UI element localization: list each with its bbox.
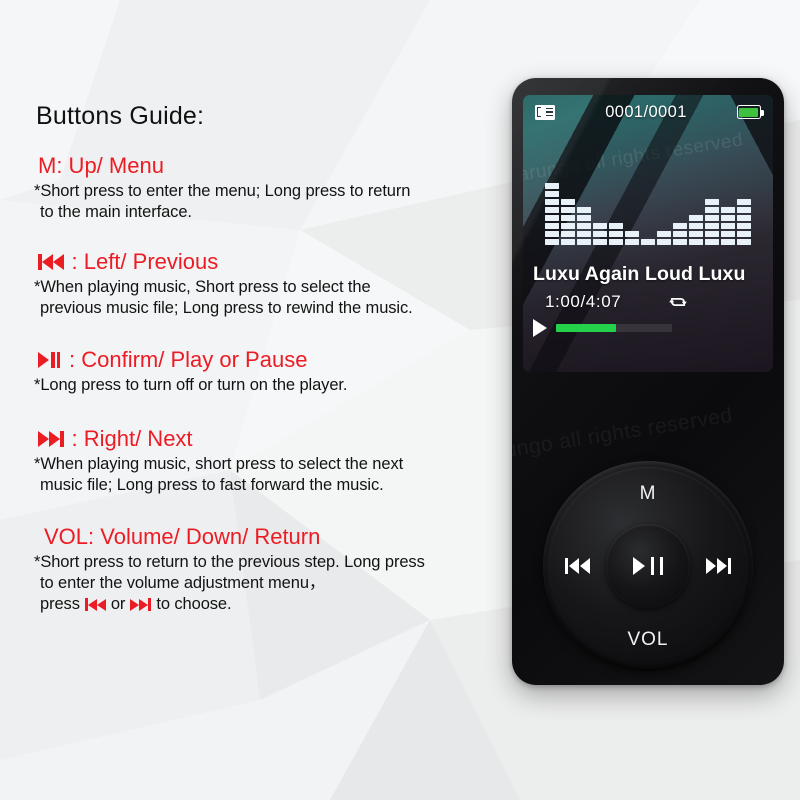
spectrum-cell <box>593 239 607 245</box>
spectrum-bar <box>545 183 559 245</box>
mp3-player-device: arungo all rights reserved arungo all ri… <box>512 78 784 685</box>
spectrum-cell <box>737 231 751 237</box>
spectrum-bar <box>609 223 623 245</box>
spectrum-bar <box>577 207 591 245</box>
spectrum-bar <box>561 199 575 245</box>
spectrum-cell <box>577 215 591 221</box>
previous-track-icon[interactable] <box>565 558 590 574</box>
spectrum-cell <box>545 199 559 205</box>
guide-body-line: *Long press to turn off or turn on the p… <box>34 375 494 396</box>
spectrum-cell <box>721 231 735 237</box>
guide-section-previous: : Left/ Previous *When playing music, Sh… <box>34 249 494 319</box>
guide-section-next: : Right/ Next *When playing music, short… <box>34 426 494 496</box>
guide-body-line: music file; Long press to fast forward t… <box>34 475 494 496</box>
time-row: 1:00/4:07 <box>533 292 763 312</box>
spectrum-cell <box>689 223 703 229</box>
spectrum-cell <box>625 239 639 245</box>
progress-bar <box>556 324 672 332</box>
spectrum-cell <box>561 223 575 229</box>
spectrum-cell <box>737 215 751 221</box>
guide-body-line: *When playing music, short press to sele… <box>34 454 494 475</box>
spectrum-cell <box>721 207 735 213</box>
page-title: Buttons Guide: <box>36 102 494 131</box>
spectrum-cell <box>705 215 719 221</box>
spectrum-bar <box>737 199 751 245</box>
spectrum-cell <box>561 239 575 245</box>
guide-heading-previous: : Left/ Previous <box>38 249 494 275</box>
guide-section-menu: M: Up/ Menu *Short press to enter the me… <box>34 153 494 223</box>
play-pause-icon <box>633 557 663 575</box>
guide-body-next: *When playing music, short press to sele… <box>34 454 494 496</box>
spectrum-cell <box>609 223 623 229</box>
spectrum-cell <box>721 239 735 245</box>
guide-section-volume: VOL: Volume/ Down/ Return *Short press t… <box>34 524 494 615</box>
spectrum-cell <box>545 223 559 229</box>
spectrum-cell <box>577 239 591 245</box>
watermark-body: arungo all rights reserved <box>512 404 734 467</box>
guide-body-line: previous music file; Long press to rewin… <box>34 298 494 319</box>
guide-heading-volume-text: VOL: Volume/ Down/ Return <box>44 524 320 550</box>
spectrum-cell <box>545 215 559 221</box>
guide-body-line-with-icons: press or to choose. <box>34 594 494 615</box>
spectrum-cell <box>705 207 719 213</box>
spectrum-bar <box>657 231 671 245</box>
spectrum-cell <box>577 207 591 213</box>
guide-body-line: *When playing music, Short press to sele… <box>34 277 494 298</box>
guide-heading-volume: VOL: Volume/ Down/ Return <box>44 524 494 550</box>
playback-row <box>533 319 763 337</box>
spectrum-cell <box>657 239 671 245</box>
spectrum-cell <box>705 199 719 205</box>
play-icon <box>533 319 547 337</box>
spectrum-cell <box>625 231 639 237</box>
spectrum-cell <box>657 231 671 237</box>
guide-heading-previous-text: : Left/ Previous <box>72 249 219 275</box>
spectrum-cell <box>545 183 559 189</box>
prev-icon <box>85 596 106 613</box>
spectrum-bar <box>721 207 735 245</box>
volume-button[interactable]: VOL <box>543 629 753 651</box>
progress-bar-fill <box>556 324 616 332</box>
spectrum-cell <box>689 239 703 245</box>
screen-status-bar: 0001/0001 <box>523 101 773 123</box>
play-pause-icon <box>38 349 60 371</box>
guide-body-volume: *Short press to return to the previous s… <box>34 552 494 615</box>
player-screen: arungo all rights reserved 0001/0001 Lux… <box>523 95 773 372</box>
spectrum-analyzer <box>545 163 751 245</box>
spectrum-cell <box>689 231 703 237</box>
buttons-guide-panel: Buttons Guide: M: Up/ Menu *Short press … <box>34 102 494 621</box>
spectrum-cell <box>545 191 559 197</box>
spectrum-bar <box>689 215 703 245</box>
spectrum-cell <box>737 223 751 229</box>
spectrum-cell <box>705 223 719 229</box>
guide-or-label: or <box>111 594 125 615</box>
spectrum-cell <box>705 231 719 237</box>
spectrum-cell <box>641 239 655 245</box>
spectrum-cell <box>737 207 751 213</box>
guide-press-label: press <box>40 594 80 615</box>
spectrum-cell <box>577 223 591 229</box>
spectrum-cell <box>561 199 575 205</box>
prev-icon <box>38 251 64 273</box>
spectrum-cell <box>561 231 575 237</box>
spectrum-cell <box>673 223 687 229</box>
guide-body-line: to the main interface. <box>34 202 494 223</box>
spectrum-cell <box>673 231 687 237</box>
track-title: Luxu Again Loud Luxu <box>533 263 763 286</box>
spectrum-cell <box>577 231 591 237</box>
spectrum-cell <box>561 207 575 213</box>
spectrum-cell <box>593 231 607 237</box>
guide-heading-next-text: : Right/ Next <box>72 426 193 452</box>
spectrum-cell <box>737 199 751 205</box>
guide-body-play-pause: *Long press to turn off or turn on the p… <box>34 375 494 396</box>
play-pause-button[interactable] <box>606 524 690 608</box>
time-display: 1:00/4:07 <box>545 292 621 312</box>
spectrum-bar <box>593 223 607 245</box>
sd-card-icon <box>535 105 555 120</box>
guide-body-line: *Short press to enter the menu; Long pre… <box>34 181 494 202</box>
guide-body-previous: *When playing music, Short press to sele… <box>34 277 494 319</box>
track-counter: 0001/0001 <box>605 103 687 122</box>
repeat-icon <box>667 293 689 311</box>
spectrum-cell <box>609 231 623 237</box>
guide-heading-play-pause: : Confirm/ Play or Pause <box>38 347 494 373</box>
spectrum-cell <box>561 215 575 221</box>
next-icon <box>130 596 151 613</box>
control-wheel[interactable]: M VOL <box>543 461 753 671</box>
spectrum-bar <box>705 199 719 245</box>
spectrum-cell <box>689 215 703 221</box>
spectrum-cell <box>721 223 735 229</box>
spectrum-cell <box>609 239 623 245</box>
guide-body-menu: *Short press to enter the menu; Long pre… <box>34 181 494 223</box>
spectrum-cell <box>593 223 607 229</box>
battery-full-icon <box>737 105 761 119</box>
guide-heading-play-pause-text: : Confirm/ Play or Pause <box>69 347 307 373</box>
guide-section-play-pause: : Confirm/ Play or Pause *Long press to … <box>34 347 494 396</box>
guide-body-line: *Short press to return to the previous s… <box>34 552 494 573</box>
guide-heading-menu: M: Up/ Menu <box>38 153 494 179</box>
spectrum-bar <box>625 231 639 245</box>
guide-heading-menu-text: M: Up/ Menu <box>38 153 164 179</box>
menu-button[interactable]: M <box>543 483 753 505</box>
spectrum-bar <box>641 239 655 245</box>
next-icon <box>38 428 64 450</box>
spectrum-cell <box>737 239 751 245</box>
guide-body-line: to enter the volume adjustment menu， <box>34 573 494 594</box>
spectrum-cell <box>721 215 735 221</box>
next-track-icon[interactable] <box>706 558 731 574</box>
spectrum-cell <box>545 231 559 237</box>
spectrum-cell <box>673 239 687 245</box>
spectrum-bar <box>673 223 687 245</box>
spectrum-cell <box>705 239 719 245</box>
spectrum-cell <box>545 239 559 245</box>
guide-heading-next: : Right/ Next <box>38 426 494 452</box>
guide-choose-label: to choose. <box>156 594 231 615</box>
now-playing-block: Luxu Again Loud Luxu 1:00/4:07 <box>523 263 773 337</box>
spectrum-cell <box>545 207 559 213</box>
